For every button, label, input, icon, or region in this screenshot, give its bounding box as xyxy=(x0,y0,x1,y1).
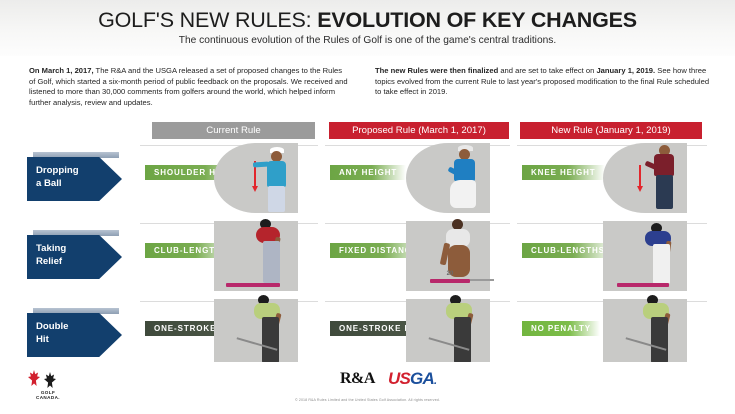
page-title: GOLF'S NEW RULES: EVOLUTION OF KEY CHANG… xyxy=(0,8,735,33)
row-label-double-hit: Double Hit xyxy=(27,313,122,357)
cell-relief-current: CLUB-LENGTHS xyxy=(140,223,318,301)
row-label-line1: Taking xyxy=(36,242,106,255)
distance-measure-bar: 20 xyxy=(430,279,470,283)
photo-backdrop xyxy=(406,143,490,213)
intro-left-lead: On March 1, 2017, xyxy=(29,66,94,75)
infographic-page: GOLF'S NEW RULES: EVOLUTION OF KEY CHANG… xyxy=(0,0,735,414)
drop-arrow-icon xyxy=(639,165,641,187)
maple-leaf-icon xyxy=(28,370,40,386)
usga-logo-us: US xyxy=(388,369,410,388)
photo-backdrop xyxy=(603,143,687,213)
pennant-text: Dropping a Ball xyxy=(36,164,106,190)
distance-measure-bar xyxy=(226,283,280,287)
row-label-line1: Dropping xyxy=(36,164,106,177)
column-header-new-rule: New Rule (January 1, 2019) xyxy=(520,122,702,139)
photo-backdrop xyxy=(603,221,687,291)
intro-right-date: January 1, 2019. xyxy=(596,66,655,75)
intro-paragraph-left: On March 1, 2017, The R&A and the USGA r… xyxy=(29,66,349,108)
maple-leaf-icon xyxy=(44,372,56,388)
row-label-line2: Relief xyxy=(36,255,106,268)
badge-any-height: ANY HEIGHT xyxy=(330,165,406,180)
row-taking-relief: Taking Relief CLUB-LENGTHS FIXED DISTANC… xyxy=(0,223,735,301)
distance-measure-bar xyxy=(617,283,669,287)
column-header-current-rule: Current Rule xyxy=(152,122,315,139)
randa-logo: R&A xyxy=(340,370,375,388)
row-label-taking-relief: Taking Relief xyxy=(27,235,122,279)
intro-right-body-1: and are set to take effect on xyxy=(498,66,596,75)
page-subtitle: The continuous evolution of the Rules of… xyxy=(0,35,735,46)
row-label-line2: Hit xyxy=(36,333,106,346)
badge-no-penalty: NO PENALTY xyxy=(522,321,600,336)
cell-dropping-proposed: ANY HEIGHT xyxy=(325,145,510,223)
usga-logo-ga: GA xyxy=(410,369,434,388)
cell-dropping-new: KNEE HEIGHT xyxy=(517,145,707,223)
row-label-dropping-a-ball: Dropping a Ball xyxy=(27,157,122,201)
cell-relief-new: CLUB-LENGTHS xyxy=(517,223,707,301)
page-title-bold: EVOLUTION OF KEY CHANGES xyxy=(317,8,637,32)
intro-right-lead: The new Rules were then finalized xyxy=(375,66,498,75)
intro-paragraph-right: The new Rules were then finalized and ar… xyxy=(375,66,710,98)
row-dropping-a-ball: Dropping a Ball SHOULDER HEIGHT ANY xyxy=(0,145,735,223)
pennant-text: Taking Relief xyxy=(36,242,106,268)
pennant-text: Double Hit xyxy=(36,320,106,346)
row-label-line1: Double xyxy=(36,320,106,333)
row-label-line2: a Ball xyxy=(36,177,106,190)
usga-logo-dot: . xyxy=(434,375,436,387)
usga-logo: USGA. xyxy=(388,369,436,389)
copyright-text: © 2018 R&A Rules Limited and the United … xyxy=(0,398,735,402)
badge-knee-height: KNEE HEIGHT xyxy=(522,165,605,180)
golf-club-icon xyxy=(470,279,494,281)
page-title-light: GOLF'S NEW RULES: xyxy=(98,8,317,32)
cell-dropping-current: SHOULDER HEIGHT xyxy=(140,145,318,223)
cell-relief-proposed: FIXED DISTANCE 20 xyxy=(325,223,510,301)
measure-value: 20 xyxy=(447,271,454,277)
column-header-proposed-rule: Proposed Rule (March 1, 2017) xyxy=(329,122,509,139)
